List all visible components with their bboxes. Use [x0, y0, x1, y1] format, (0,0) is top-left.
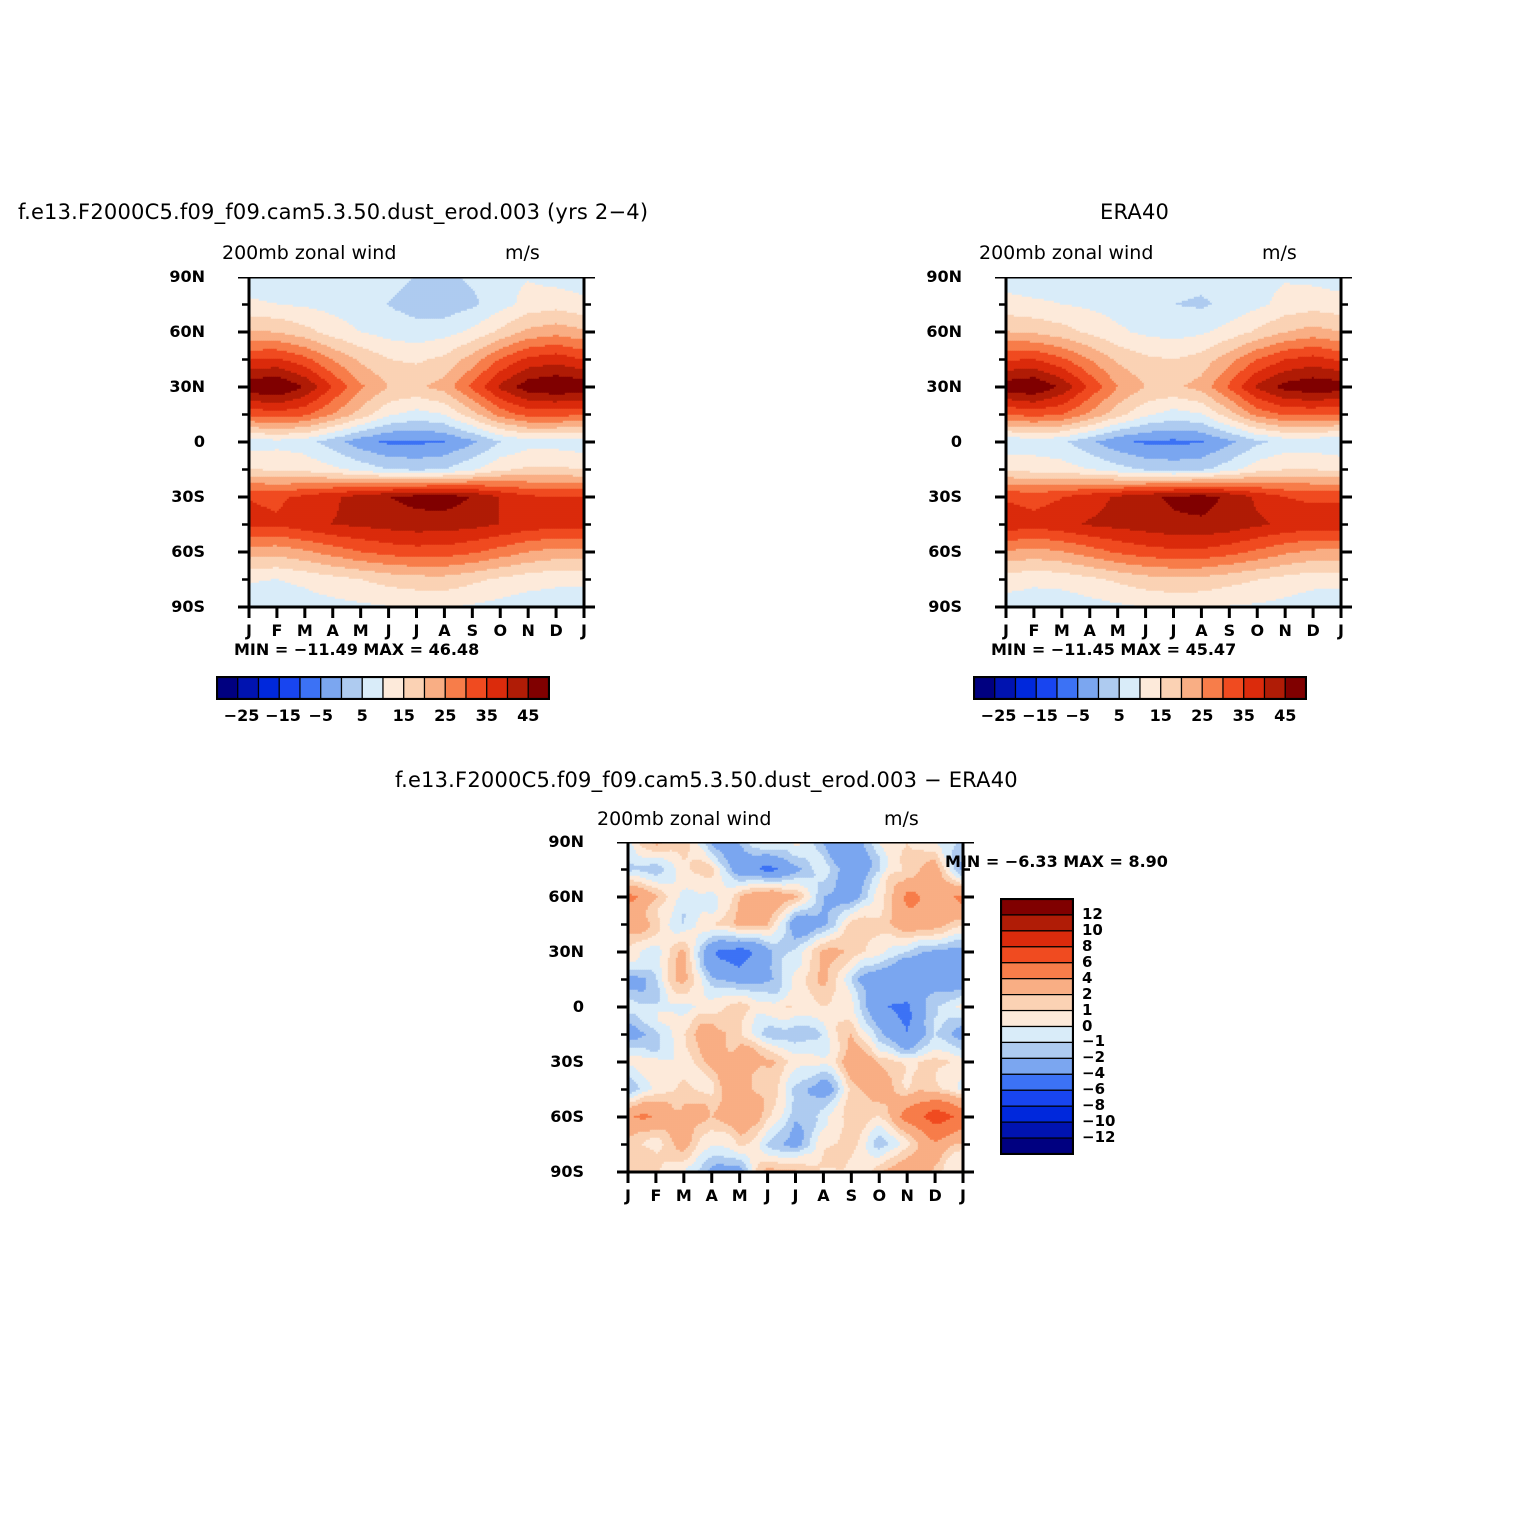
diff-units-label: m/s [884, 808, 919, 830]
x-axis-tick-label: D [1301, 621, 1325, 640]
x-axis-tick-label: A [432, 621, 456, 640]
x-axis-tick-label: O [488, 621, 512, 640]
y-axis-tick-label: 30N [912, 377, 962, 396]
colorbar-tick-label: 45 [1271, 706, 1299, 725]
x-axis-tick-label: J [1329, 621, 1353, 640]
model-units-label: m/s [505, 242, 540, 264]
model-colorbar[interactable]: −25−15−5515253545 [216, 676, 550, 700]
colorbar-tick-label: −25 [981, 706, 1009, 725]
y-axis-tick-label: 90N [155, 267, 205, 286]
obs-minmax-label: MIN = −11.45 MAX = 45.47 [991, 640, 1236, 659]
x-axis-tick-label: J [616, 1186, 640, 1205]
x-axis-tick-label: M [1106, 621, 1130, 640]
model-subheader: 200mb zonal wind [222, 242, 396, 264]
x-axis-tick-label: F [265, 621, 289, 640]
y-axis-tick-label: 30N [534, 942, 584, 961]
x-axis-tick-label: N [1273, 621, 1297, 640]
diff-panel-title: f.e13.F2000C5.f09_f09.cam5.3.50.dust_ero… [395, 768, 1018, 792]
x-axis-tick-label: A [1189, 621, 1213, 640]
y-axis-tick-label: 60S [155, 542, 205, 561]
x-axis-tick-label: J [784, 1186, 808, 1205]
y-axis-tick-label: 60N [534, 887, 584, 906]
colorbar-tick-label: 5 [1105, 706, 1133, 725]
y-axis-tick-label: 0 [155, 432, 205, 451]
y-axis-tick-label: 30S [912, 487, 962, 506]
diff-minmax-label: MIN = −6.33 MAX = 8.90 [945, 852, 1168, 871]
x-axis-tick-label: O [867, 1186, 891, 1205]
y-axis-tick-label: 60S [912, 542, 962, 561]
y-axis-tick-label: 90S [155, 597, 205, 616]
y-axis-tick-label: 60N [155, 322, 205, 341]
x-axis-tick-label: M [1050, 621, 1074, 640]
diff-subheader: 200mb zonal wind [597, 808, 771, 830]
x-axis-tick-label: J [237, 621, 261, 640]
x-axis-tick-label: J [1162, 621, 1186, 640]
y-axis-tick-label: 30S [155, 487, 205, 506]
y-axis-tick-label: 90S [912, 597, 962, 616]
x-axis-tick-label: M [349, 621, 373, 640]
x-axis-tick-label: F [644, 1186, 668, 1205]
model-panel-title: f.e13.F2000C5.f09_f09.cam5.3.50.dust_ero… [18, 200, 648, 224]
obs-colorbar[interactable]: −25−15−5515253545 [973, 676, 1307, 700]
y-axis-tick-label: 60S [534, 1107, 584, 1126]
colorbar-tick-label: −12 [1082, 1128, 1115, 1146]
x-axis-tick-label: D [544, 621, 568, 640]
y-axis-tick-label: 90N [912, 267, 962, 286]
colorbar-tick-label: −5 [1064, 706, 1092, 725]
x-axis-tick-label: F [1022, 621, 1046, 640]
y-axis-tick-label: 60N [912, 322, 962, 341]
y-axis-tick-label: 0 [912, 432, 962, 451]
colorbar-tick-label: 25 [1188, 706, 1216, 725]
colorbar-tick-label: −15 [1022, 706, 1050, 725]
x-axis-tick-label: A [700, 1186, 724, 1205]
colorbar-tick-label: 15 [390, 706, 418, 725]
colorbar-tick-label: 45 [514, 706, 542, 725]
colorbar-tick-label: 35 [473, 706, 501, 725]
y-axis-tick-label: 0 [534, 997, 584, 1016]
x-axis-tick-label: M [293, 621, 317, 640]
x-axis-tick-label: S [1217, 621, 1241, 640]
colorbar-tick-label: 35 [1230, 706, 1258, 725]
x-axis-tick-label: M [728, 1186, 752, 1205]
diff-colorbar[interactable]: 1210864210−1−2−4−6−8−10−12 [1000, 898, 1074, 1155]
obs-units-label: m/s [1262, 242, 1297, 264]
x-axis-tick-label: J [951, 1186, 975, 1205]
y-axis-tick-label: 90N [534, 832, 584, 851]
x-axis-tick-label: A [1078, 621, 1102, 640]
y-axis-tick-label: 30S [534, 1052, 584, 1071]
colorbar-tick-label: −25 [224, 706, 252, 725]
y-axis-tick-label: 30N [155, 377, 205, 396]
x-axis-tick-label: S [460, 621, 484, 640]
x-axis-tick-label: J [405, 621, 429, 640]
colorbar-tick-label: −15 [265, 706, 293, 725]
x-axis-tick-label: D [923, 1186, 947, 1205]
x-axis-tick-label: N [516, 621, 540, 640]
obs-panel-title: ERA40 [1100, 200, 1169, 224]
colorbar-tick-label: 15 [1147, 706, 1175, 725]
model-contour-plot[interactable]: 90N60N30N030S60S90SJFMAMJJASONDJ [213, 277, 610, 673]
colorbar-tick-label: 5 [348, 706, 376, 725]
x-axis-tick-label: A [321, 621, 345, 640]
model-minmax-label: MIN = −11.49 MAX = 46.48 [234, 640, 479, 659]
x-axis-tick-label: J [377, 621, 401, 640]
x-axis-tick-label: O [1245, 621, 1269, 640]
colorbar-tick-label: 25 [431, 706, 459, 725]
x-axis-tick-label: A [811, 1186, 835, 1205]
x-axis-tick-label: J [756, 1186, 780, 1205]
x-axis-tick-label: J [994, 621, 1018, 640]
x-axis-tick-label: J [1134, 621, 1158, 640]
x-axis-tick-label: M [672, 1186, 696, 1205]
diff-contour-plot[interactable]: 90N60N30N030S60S90SJFMAMJJASONDJ [592, 842, 989, 1238]
colorbar-tick-label: −5 [307, 706, 335, 725]
obs-subheader: 200mb zonal wind [979, 242, 1153, 264]
obs-contour-plot[interactable]: 90N60N30N030S60S90SJFMAMJJASONDJ [970, 277, 1367, 673]
x-axis-tick-label: S [839, 1186, 863, 1205]
x-axis-tick-label: J [572, 621, 596, 640]
y-axis-tick-label: 90S [534, 1162, 584, 1181]
x-axis-tick-label: N [895, 1186, 919, 1205]
